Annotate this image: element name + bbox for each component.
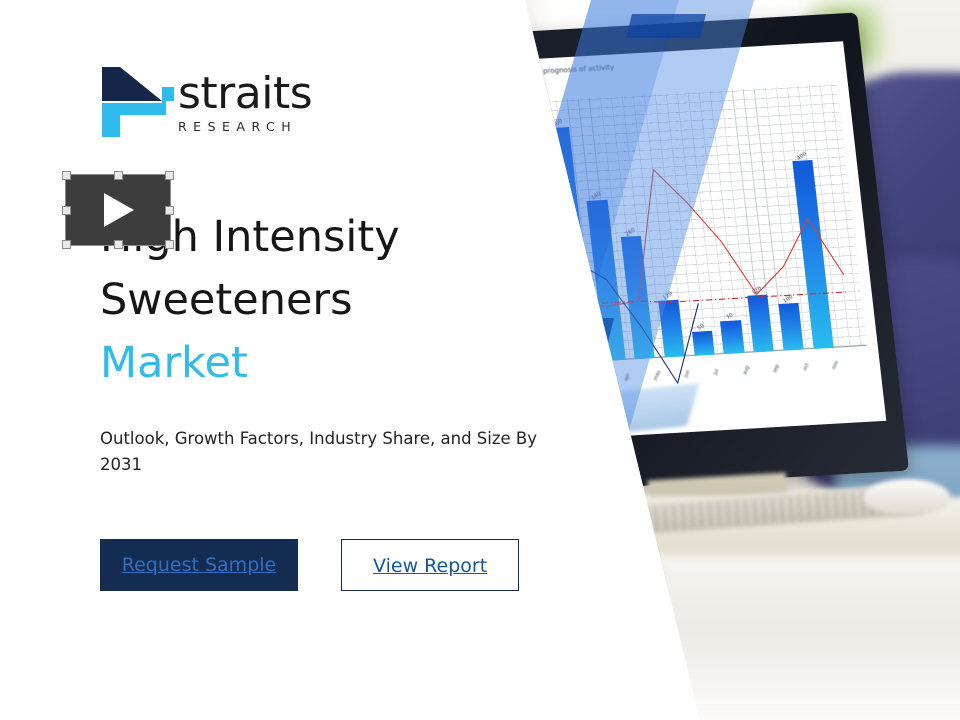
play-triangle-icon (104, 193, 134, 227)
resize-handle-top-left[interactable] (62, 171, 71, 180)
brand-logo[interactable]: straits RESEARCH (100, 62, 295, 142)
resize-handle-top-right[interactable] (165, 171, 174, 180)
resize-handle-middle-left[interactable] (62, 206, 71, 215)
brand-tagline: RESEARCH (178, 119, 312, 134)
resize-handle-middle-right[interactable] (165, 206, 174, 215)
subtitle: Outlook, Growth Factors, Industry Share,… (100, 426, 550, 478)
chevron-arrow-logo-icon (100, 65, 176, 139)
cta-group: Request Sample View Report (100, 539, 519, 591)
resize-handle-bottom-center[interactable] (114, 240, 123, 249)
view-report-button[interactable]: View Report (341, 539, 519, 591)
slide-root: Data and prognosis of activity 440500340… (0, 0, 960, 720)
desk-leg (634, 569, 663, 684)
headline-accent-word: Market (100, 332, 530, 395)
video-play-button[interactable] (66, 175, 170, 245)
resize-handle-bottom-right[interactable] (165, 240, 174, 249)
mouse (864, 479, 950, 515)
resize-handle-top-center[interactable] (114, 171, 123, 180)
chart-x-label: feb (562, 370, 616, 409)
request-sample-button[interactable]: Request Sample (100, 539, 298, 591)
left-content: straits RESEARCH High Intensity Sweetene… (0, 0, 560, 720)
brand-name: straits (178, 72, 312, 116)
brand-logo-text: straits RESEARCH (178, 72, 312, 134)
resize-handle-bottom-left[interactable] (62, 240, 71, 249)
headline-line-2: Sweeteners (100, 269, 530, 332)
